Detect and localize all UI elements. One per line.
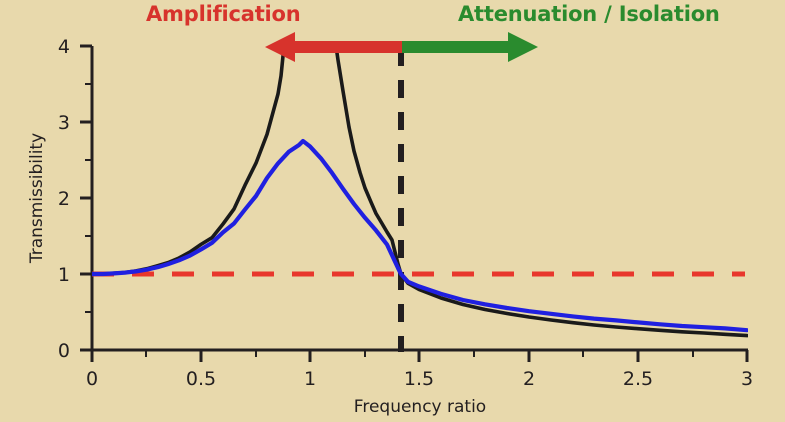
curve-low-damping-line <box>92 46 747 336</box>
chart-figure: Amplification Attenuation / Isolation <box>0 0 785 422</box>
attenuation-arrow-right <box>402 32 538 62</box>
amplification-arrow-left <box>265 32 402 62</box>
curve-higher-damping-line <box>92 141 747 330</box>
y-tick-label-0: 0 <box>58 340 70 362</box>
y-tick-label-2: 2 <box>58 188 70 210</box>
x-tick-label-2-5: 2.5 <box>623 368 653 390</box>
x-axis <box>92 350 748 362</box>
x-tick-label-1: 1 <box>304 368 316 390</box>
x-tick-label-3: 3 <box>741 368 753 390</box>
x-tick-label-0: 0 <box>86 368 98 390</box>
x-tick-label-2: 2 <box>523 368 535 390</box>
amplification-region-label: Amplification <box>146 2 301 26</box>
x-axis-title: Frequency ratio <box>354 397 486 417</box>
y-axis <box>80 46 92 351</box>
y-tick-label-4: 4 <box>58 36 70 58</box>
y-tick-label-1: 1 <box>58 264 70 286</box>
y-tick-label-3: 3 <box>58 112 70 134</box>
x-tick-label-0-5: 0.5 <box>186 368 216 390</box>
x-tick-label-1-5: 1.5 <box>404 368 434 390</box>
plot-area: 4 3 2 1 0 0 0.5 1 1.5 2 2.5 3 Frequency … <box>0 0 785 422</box>
y-axis-title: Transmissibility <box>27 133 47 264</box>
attenuation-region-label: Attenuation / Isolation <box>458 2 720 26</box>
